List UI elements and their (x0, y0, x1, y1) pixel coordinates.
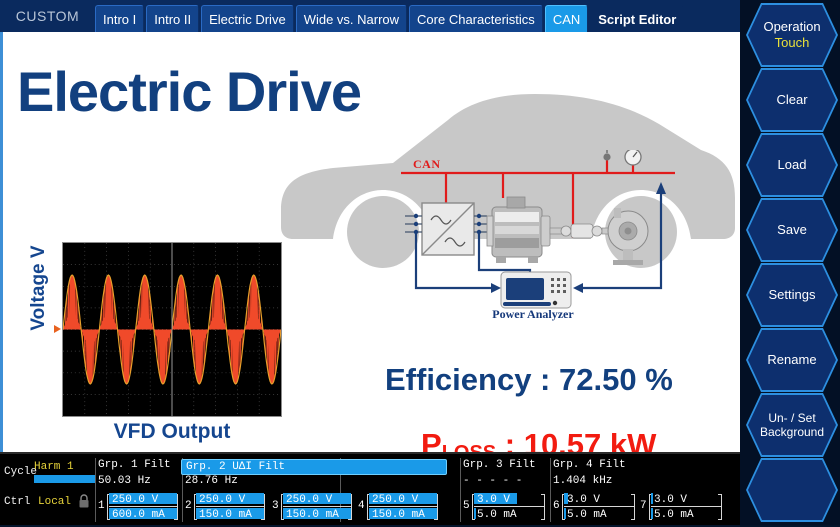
status-divider (550, 458, 551, 522)
group-3-frequency: - - - - - (463, 475, 522, 487)
group-1-header[interactable]: Grp. 1 Filt (98, 459, 171, 471)
scope-trigger-marker (54, 325, 61, 333)
channel-voltage-value: 250.0 V (286, 494, 332, 506)
softkey-settings[interactable]: Settings (746, 263, 838, 327)
channel-voltage-value: 3.0 V (567, 494, 600, 506)
drive-shaft-icon (550, 224, 612, 238)
channel-3-meter[interactable]: 3250.0 V150.0 mA (272, 492, 354, 522)
channel-current-value: 150.0 mA (199, 509, 252, 521)
channel-number: 7 (640, 500, 647, 512)
custom-page-canvas: Electric Drive (0, 32, 740, 452)
softkey-sublabel: Background (760, 425, 824, 439)
phase-taps-left (405, 214, 422, 234)
softkey-sublabel: Touch (775, 35, 810, 51)
meter-bracket-right (351, 494, 352, 520)
status-divider (95, 458, 96, 522)
softkey-empty-7[interactable] (746, 458, 838, 522)
meter-baseline (109, 506, 177, 507)
meter-bracket-right (721, 494, 722, 520)
channel-5-meter[interactable]: 53.0 V5.0 mA (463, 492, 547, 522)
tab-script-editor[interactable]: Script Editor (590, 5, 684, 32)
softkey-un-set[interactable]: Un- / SetBackground (746, 393, 838, 457)
cycle-bar (34, 475, 96, 483)
channel-current-bar (651, 508, 653, 519)
channel-4-meter[interactable]: 4250.0 V150.0 mA (358, 492, 440, 522)
scope-block: Voltage V VFD Output (17, 207, 282, 447)
inverter-icon (422, 203, 474, 255)
meter-baseline (283, 506, 351, 507)
waveform-svg (63, 243, 281, 416)
sensor-probe-icon (603, 153, 610, 160)
softkey-body: Load (748, 135, 836, 195)
status-bar: Cycle Harm 1 Ctrl Local Grp. 1 Filt50.03… (0, 452, 740, 525)
status-divider (460, 458, 461, 522)
tab-can[interactable]: CAN (545, 5, 588, 32)
meter-bracket-left (281, 494, 282, 520)
softkey-save[interactable]: Save (746, 198, 838, 262)
softkey-body: Settings (748, 265, 836, 325)
efficiency-readout: Efficiency : 72.50 % (385, 362, 673, 398)
channel-voltage-bar (651, 493, 653, 504)
group-4-header[interactable]: Grp. 4 Filt (553, 459, 626, 471)
meter-bracket-right (544, 494, 545, 520)
channel-current-value: 5.0 mA (477, 509, 517, 521)
meter-bracket-right (264, 494, 265, 520)
group-4-frequency: 1.404 kHz (553, 475, 612, 487)
ploss-subscript: LOSS (442, 442, 496, 452)
tab-list: Intro IIntro IIElectric DriveWide vs. Na… (95, 5, 686, 32)
ploss-separator: : (496, 427, 524, 452)
meter-baseline (196, 506, 264, 507)
meter-baseline (651, 506, 721, 507)
lock-icon (78, 494, 90, 513)
softkey-load[interactable]: Load (746, 133, 838, 197)
softkey-label: Save (777, 222, 807, 238)
softkey-label: Un- / Set (768, 411, 815, 425)
channel-number: 4 (358, 500, 365, 512)
channel-voltage-value: 3.0 V (654, 494, 687, 506)
channel-number: 3 (272, 500, 279, 512)
channel-2-meter[interactable]: 2250.0 V150.0 mA (185, 492, 267, 522)
softkey-label: Settings (769, 287, 816, 303)
tab-intro-ii[interactable]: Intro II (146, 5, 199, 32)
ctrl-value[interactable]: Local (38, 496, 71, 508)
channel-current-value: 5.0 mA (654, 509, 694, 521)
tab-bar: CUSTOM Intro IIntro IIElectric DriveWide… (0, 0, 740, 32)
tab-core-characteristics[interactable]: Core Characteristics (409, 5, 543, 32)
channel-number: 5 (463, 500, 470, 512)
meter-bracket-left (649, 494, 650, 520)
efficiency-label: Efficiency : (385, 362, 559, 397)
meter-bracket-left (472, 494, 473, 520)
softkey-label: Operation (763, 19, 820, 35)
powertrain-schematic: CAN Power Analyzer (383, 150, 683, 335)
softkey-operation[interactable]: OperationTouch (746, 3, 838, 67)
meter-bracket-left (367, 494, 368, 520)
scope-caption: VFD Output (62, 420, 282, 444)
channel-voltage-value: 250.0 V (199, 494, 245, 506)
channel-current-value: 5.0 mA (567, 509, 607, 521)
softkey-body: Clear (748, 70, 836, 130)
softkey-label: Rename (767, 352, 816, 368)
channel-voltage-value: 250.0 V (372, 494, 418, 506)
channel-number: 6 (553, 500, 560, 512)
power-analyzer-icon (501, 272, 571, 308)
softkey-label: Clear (776, 92, 807, 108)
softkey-body (748, 460, 836, 520)
meter-bracket-left (562, 494, 563, 520)
channel-number: 1 (98, 500, 105, 512)
meter-baseline (369, 506, 437, 507)
tab-intro-i[interactable]: Intro I (95, 5, 144, 32)
channel-6-meter[interactable]: 63.0 V5.0 mA (553, 492, 637, 522)
meter-bracket-right (177, 494, 178, 520)
group-2-frequency: 28.76 Hz (185, 475, 238, 487)
meter-bracket-left (194, 494, 195, 520)
meter-bracket-left (107, 494, 108, 520)
phase-taps-right (474, 214, 487, 234)
softkey-panel: OperationTouchClearLoadSaveSettingsRenam… (740, 0, 840, 525)
gauge-icon (625, 150, 641, 165)
wheel-hub-icon (608, 208, 648, 265)
cycle-label: Cycle (4, 466, 37, 478)
channel-1-meter[interactable]: 1250.0 V600.0 mA (98, 492, 180, 522)
channel-current-value: 150.0 mA (286, 509, 339, 521)
tab-wide-vs-narrow[interactable]: Wide vs. Narrow (296, 5, 407, 32)
arrow-to-analyzer-left (491, 283, 501, 293)
arrow-to-can (656, 182, 666, 194)
meter-baseline (474, 506, 544, 507)
softkey-label: Load (778, 157, 807, 173)
group-3-header[interactable]: Grp. 3 Filt (463, 459, 536, 471)
channel-current-value: 150.0 mA (372, 509, 425, 521)
group-1-frequency: 50.03 Hz (98, 475, 151, 487)
channel-7-meter[interactable]: 73.0 V5.0 mA (640, 492, 724, 522)
waveform-display[interactable] (62, 242, 282, 417)
arrow-to-analyzer-right (573, 283, 583, 293)
channel-voltage-value: 250.0 V (112, 494, 158, 506)
status-cycle-ctrl-column: Cycle Harm 1 Ctrl Local (0, 454, 95, 527)
softkey-body: Un- / SetBackground (748, 395, 836, 455)
softkey-body: Rename (748, 330, 836, 390)
power-loss-readout: PLOSS : 10.57 kW (421, 427, 656, 452)
channel-number: 2 (185, 500, 192, 512)
channel-voltage-value: 3.0 V (477, 494, 510, 506)
group-2-header[interactable]: Grp. 2 UΔI Filt (181, 459, 447, 475)
channel-current-bar (474, 508, 476, 519)
softkey-body: OperationTouch (748, 5, 836, 65)
channel-current-bar (564, 508, 566, 519)
softkey-clear[interactable]: Clear (746, 68, 838, 132)
cycle-value[interactable]: Harm 1 (34, 461, 74, 473)
efficiency-value: 72.50 % (559, 362, 673, 397)
instrument-screen: CUSTOM Intro IIntro IIElectric DriveWide… (0, 0, 840, 525)
ploss-label: P (421, 427, 442, 452)
tab-electric-drive[interactable]: Electric Drive (201, 5, 294, 32)
softkey-body: Save (748, 200, 836, 260)
can-bus-label: CAN (413, 157, 441, 172)
meter-bracket-right (634, 494, 635, 520)
ploss-value: 10.57 kW (524, 427, 657, 452)
electric-motor-icon (487, 197, 550, 263)
custom-menu-label[interactable]: CUSTOM (0, 0, 95, 32)
meter-bracket-right (437, 494, 438, 520)
softkey-rename[interactable]: Rename (746, 328, 838, 392)
ctrl-label: Ctrl (4, 496, 30, 508)
meter-baseline (564, 506, 634, 507)
channel-current-value: 600.0 mA (112, 509, 165, 521)
scope-y-axis-label: Voltage V (28, 233, 50, 343)
power-analyzer-label: Power Analyzer (478, 307, 588, 322)
